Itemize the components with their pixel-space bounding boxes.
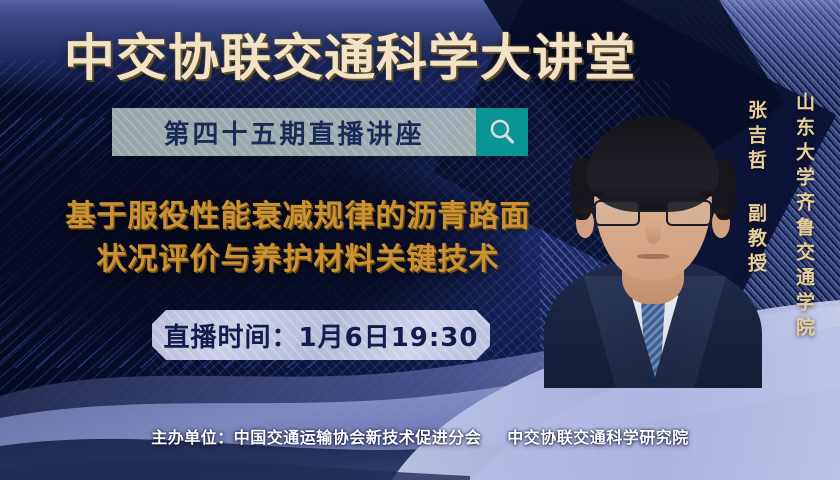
episode-label: 第四十五期直播讲座	[163, 114, 424, 151]
portrait-lens-left	[594, 200, 640, 226]
speaker-name: 张吉哲 副教授	[743, 100, 770, 278]
speaker-portrait	[548, 88, 758, 388]
episode-banner: 第四十五期直播讲座	[112, 108, 528, 156]
lecture-title: 基于服役性能衰减规律的沥青路面 状况评价与养护材料关键技术	[18, 196, 578, 281]
footer-org-1: 中国交通运输协会新技术促进分会	[234, 428, 482, 447]
portrait-lens-right	[666, 200, 712, 226]
footer-organizers: 主办单位：中国交通运输协会新技术促进分会中交协联交通科学研究院	[0, 424, 840, 448]
livestream-poster: 中交协联交通科学大讲堂 第四十五期直播讲座 基于服役性能衰减规律的沥青路面 状况…	[0, 0, 840, 480]
schedule-badge: 直播时间：1月6日19:30	[152, 310, 490, 360]
page-title: 中交协联交通科学大讲堂	[0, 18, 707, 90]
portrait-nose	[645, 222, 661, 244]
lecture-title-line-2: 状况评价与养护材料关键技术	[18, 239, 578, 282]
episode-label-container: 第四十五期直播讲座	[112, 108, 476, 156]
portrait-eye-left	[579, 208, 594, 214]
portrait-hair	[587, 116, 719, 212]
speaker-affiliation: 山东大学齐鲁交通学院	[791, 92, 818, 342]
portrait-mouth	[637, 254, 669, 259]
footer-org-2: 中交协联交通科学研究院	[507, 428, 689, 447]
schedule-label: 直播时间：1月6日19:30	[164, 317, 479, 354]
portrait-lens-bridge	[640, 210, 666, 212]
search-icon[interactable]	[476, 108, 528, 156]
lecture-title-line-1: 基于服役性能衰减规律的沥青路面	[18, 196, 578, 239]
footer-prefix: 主办单位：	[151, 428, 234, 447]
portrait-eye-right	[712, 208, 727, 214]
